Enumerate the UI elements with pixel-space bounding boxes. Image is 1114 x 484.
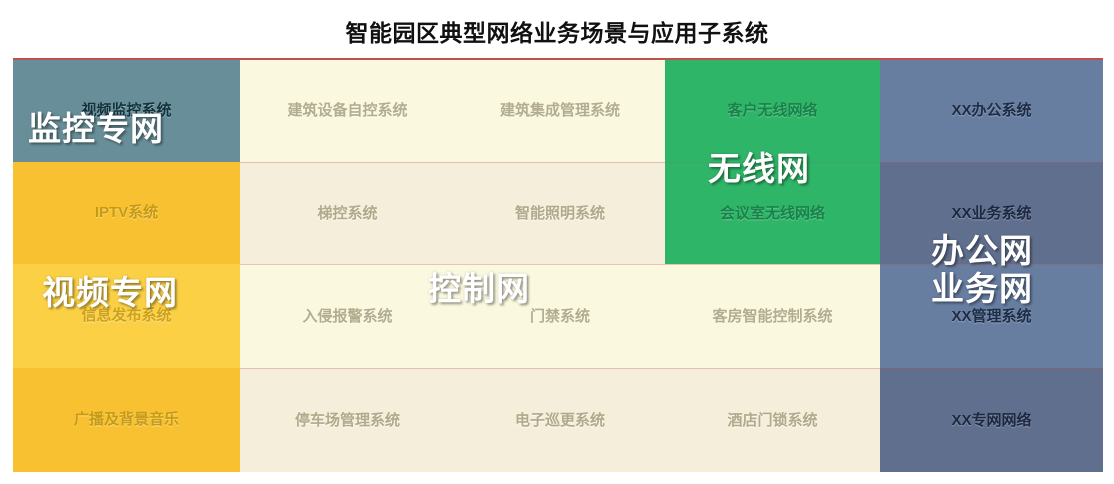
cell-label: 客户无线网络: [727, 102, 817, 120]
matrix-cell-iptv[interactable]: IPTV系统: [13, 162, 240, 264]
cell-label: 信息发布系统: [81, 307, 171, 325]
matrix-cell-business-system[interactable]: XX业务系统: [880, 162, 1103, 264]
matrix-cell-broadcast-music[interactable]: 广播及背景音乐: [13, 368, 240, 472]
cell-label: 智能照明系统: [515, 205, 605, 223]
page-title: 智能园区典型网络业务场景与应用子系统: [0, 14, 1114, 48]
matrix-cell-intrusion-alarm[interactable]: 入侵报警系统: [240, 264, 455, 368]
cell-label: IPTV系统: [95, 204, 158, 222]
matrix-grid: 视频监控系统 建筑设备自控系统 建筑集成管理系统 客户无线网络 XX办公系统 I…: [13, 60, 1103, 468]
cell-label: 酒店门锁系统: [727, 412, 817, 430]
matrix-cell-information-release[interactable]: 信息发布系统: [13, 264, 240, 368]
network-scenario-matrix: 视频监控系统 建筑设备自控系统 建筑集成管理系统 客户无线网络 XX办公系统 I…: [13, 58, 1103, 470]
matrix-cell-building-integration[interactable]: 建筑集成管理系统: [455, 60, 665, 162]
cell-label: XX专网网络: [951, 412, 1031, 430]
cell-label: 建筑集成管理系统: [500, 102, 620, 120]
cell-label: XX办公系统: [951, 102, 1031, 120]
matrix-cell-guest-wireless[interactable]: 客户无线网络: [665, 60, 880, 162]
cell-label: 梯控系统: [317, 205, 377, 223]
matrix-cell-electronic-patrol[interactable]: 电子巡更系统: [455, 368, 665, 472]
cell-label: 广播及背景音乐: [74, 411, 179, 429]
cell-label: 客房智能控制系统: [712, 308, 832, 326]
cell-label: 入侵报警系统: [302, 308, 392, 326]
matrix-cell-meeting-wireless[interactable]: 会议室无线网络: [665, 162, 880, 264]
matrix-cell-elevator-control[interactable]: 梯控系统: [240, 162, 455, 264]
matrix-cell-access-control[interactable]: 门禁系统: [455, 264, 665, 368]
cell-label: 会议室无线网络: [720, 205, 825, 223]
cell-label: 停车场管理系统: [295, 412, 400, 430]
matrix-cell-private-network[interactable]: XX专网网络: [880, 368, 1103, 472]
matrix-cell-video-surveillance[interactable]: 视频监控系统: [13, 60, 240, 162]
cell-label: 建筑设备自控系统: [287, 102, 407, 120]
cell-label: XX管理系统: [951, 308, 1031, 326]
matrix-cell-management-system[interactable]: XX管理系统: [880, 264, 1103, 368]
cell-label: 电子巡更系统: [515, 412, 605, 430]
matrix-cell-hotel-doorlock[interactable]: 酒店门锁系统: [665, 368, 880, 472]
matrix-cell-guestroom-control[interactable]: 客房智能控制系统: [665, 264, 880, 368]
matrix-cell-office-system[interactable]: XX办公系统: [880, 60, 1103, 162]
matrix-cell-smart-lighting[interactable]: 智能照明系统: [455, 162, 665, 264]
cell-label: 视频监控系统: [81, 102, 171, 120]
cell-label: XX业务系统: [951, 205, 1031, 223]
matrix-cell-parking-management[interactable]: 停车场管理系统: [240, 368, 455, 472]
cell-label: 门禁系统: [530, 308, 590, 326]
matrix-cell-building-automation[interactable]: 建筑设备自控系统: [240, 60, 455, 162]
